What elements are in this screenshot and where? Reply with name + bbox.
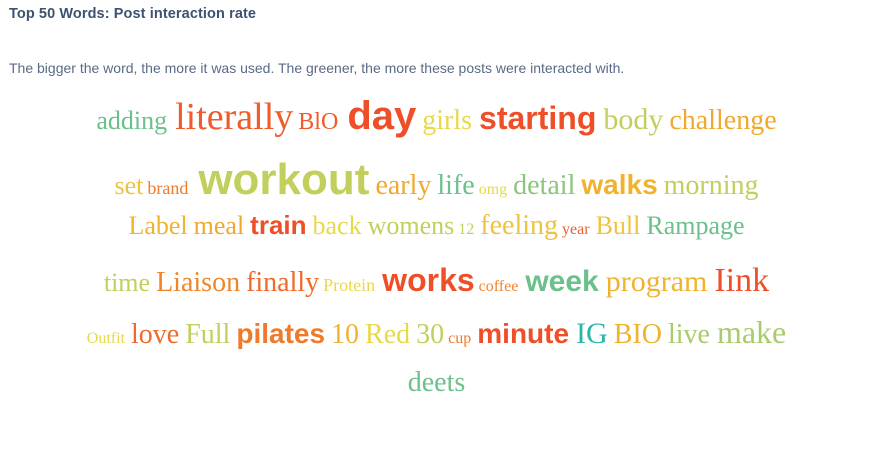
- word-cloud-term[interactable]: minute: [477, 320, 569, 348]
- word-cloud-term[interactable]: feeling: [480, 212, 558, 240]
- word-cloud-row: setbrandworkoutearlylifeomgdetailwalksmo…: [0, 158, 873, 212]
- word-cloud-term[interactable]: 30: [416, 321, 444, 349]
- word-cloud-term[interactable]: Label: [128, 213, 187, 239]
- word-cloud: addingliterallyBlOdaygirlsstartingbodych…: [0, 96, 873, 459]
- word-cloud-term[interactable]: coffee: [479, 279, 519, 295]
- word-cloud-term[interactable]: life: [437, 172, 474, 200]
- word-cloud-term[interactable]: literally: [175, 98, 293, 136]
- word-cloud-term[interactable]: Protein: [323, 276, 375, 294]
- word-cloud-term[interactable]: week: [525, 267, 598, 297]
- word-cloud-term[interactable]: omg: [479, 182, 507, 198]
- word-cloud-term[interactable]: brand: [147, 179, 188, 197]
- word-cloud-term[interactable]: adding: [96, 108, 167, 134]
- word-cloud-term[interactable]: walks: [581, 171, 657, 199]
- word-cloud-term[interactable]: 12: [458, 222, 474, 238]
- chart-subtitle: The bigger the word, the more it was use…: [9, 60, 624, 76]
- word-cloud-row: deets: [0, 369, 873, 421]
- word-cloud-term[interactable]: Outfit: [87, 331, 125, 347]
- word-cloud-term[interactable]: pilates: [236, 320, 325, 348]
- word-cloud-term[interactable]: early: [375, 172, 431, 200]
- word-cloud-term[interactable]: workout: [198, 158, 369, 202]
- word-cloud-term[interactable]: time: [104, 270, 150, 296]
- word-cloud-term[interactable]: deets: [408, 369, 466, 397]
- word-cloud-term[interactable]: Bull: [596, 213, 641, 239]
- word-cloud-term[interactable]: love: [131, 321, 179, 349]
- word-cloud-term[interactable]: make: [717, 316, 786, 348]
- word-cloud-term[interactable]: Liaison: [156, 269, 240, 297]
- word-cloud-term[interactable]: starting: [479, 102, 596, 134]
- word-cloud-term[interactable]: detail: [513, 172, 575, 200]
- word-cloud-row: addingliterallyBlOdaygirlsstartingbodych…: [0, 96, 873, 158]
- word-cloud-term[interactable]: finally: [246, 269, 319, 297]
- word-cloud-term[interactable]: Red: [365, 321, 410, 349]
- word-cloud-term[interactable]: live: [668, 321, 710, 349]
- word-cloud-row: OutfitloveFullpilates10Red30cupminuteIGB…: [0, 316, 873, 369]
- word-cloud-term[interactable]: body: [603, 105, 663, 135]
- word-cloud-term[interactable]: Iink: [714, 264, 769, 298]
- word-cloud-term[interactable]: works: [382, 264, 474, 296]
- word-cloud-term[interactable]: BlO: [298, 110, 338, 134]
- word-cloud-term[interactable]: 10: [331, 321, 359, 349]
- word-cloud-term[interactable]: girls: [422, 107, 472, 135]
- word-cloud-term[interactable]: cup: [448, 331, 471, 347]
- word-cloud-term[interactable]: program: [606, 267, 708, 297]
- word-cloud-term[interactable]: day: [347, 96, 416, 136]
- word-cloud-term[interactable]: IG: [576, 319, 608, 349]
- word-cloud-term[interactable]: Rampage: [646, 213, 744, 239]
- word-cloud-term[interactable]: back: [313, 213, 362, 239]
- word-cloud-term[interactable]: challenge: [669, 107, 776, 135]
- word-cloud-term[interactable]: BIO: [614, 321, 662, 349]
- word-cloud-row: timeLiaisonfinallyProteinworkscoffeeweek…: [0, 264, 873, 316]
- word-cloud-term[interactable]: Full: [185, 321, 230, 349]
- word-cloud-panel: Top 50 Words: Post interaction rate The …: [0, 0, 873, 459]
- page-title: Top 50 Words: Post interaction rate: [9, 6, 256, 22]
- word-cloud-row: Labelmealtrainbackwomens12feelingyearBul…: [0, 212, 873, 264]
- word-cloud-term[interactable]: meal: [194, 213, 245, 239]
- word-cloud-term[interactable]: year: [562, 222, 590, 238]
- word-cloud-term[interactable]: womens: [368, 213, 455, 239]
- word-cloud-term[interactable]: set: [114, 173, 143, 199]
- word-cloud-term[interactable]: morning: [664, 172, 759, 200]
- word-cloud-term[interactable]: train: [250, 212, 306, 238]
